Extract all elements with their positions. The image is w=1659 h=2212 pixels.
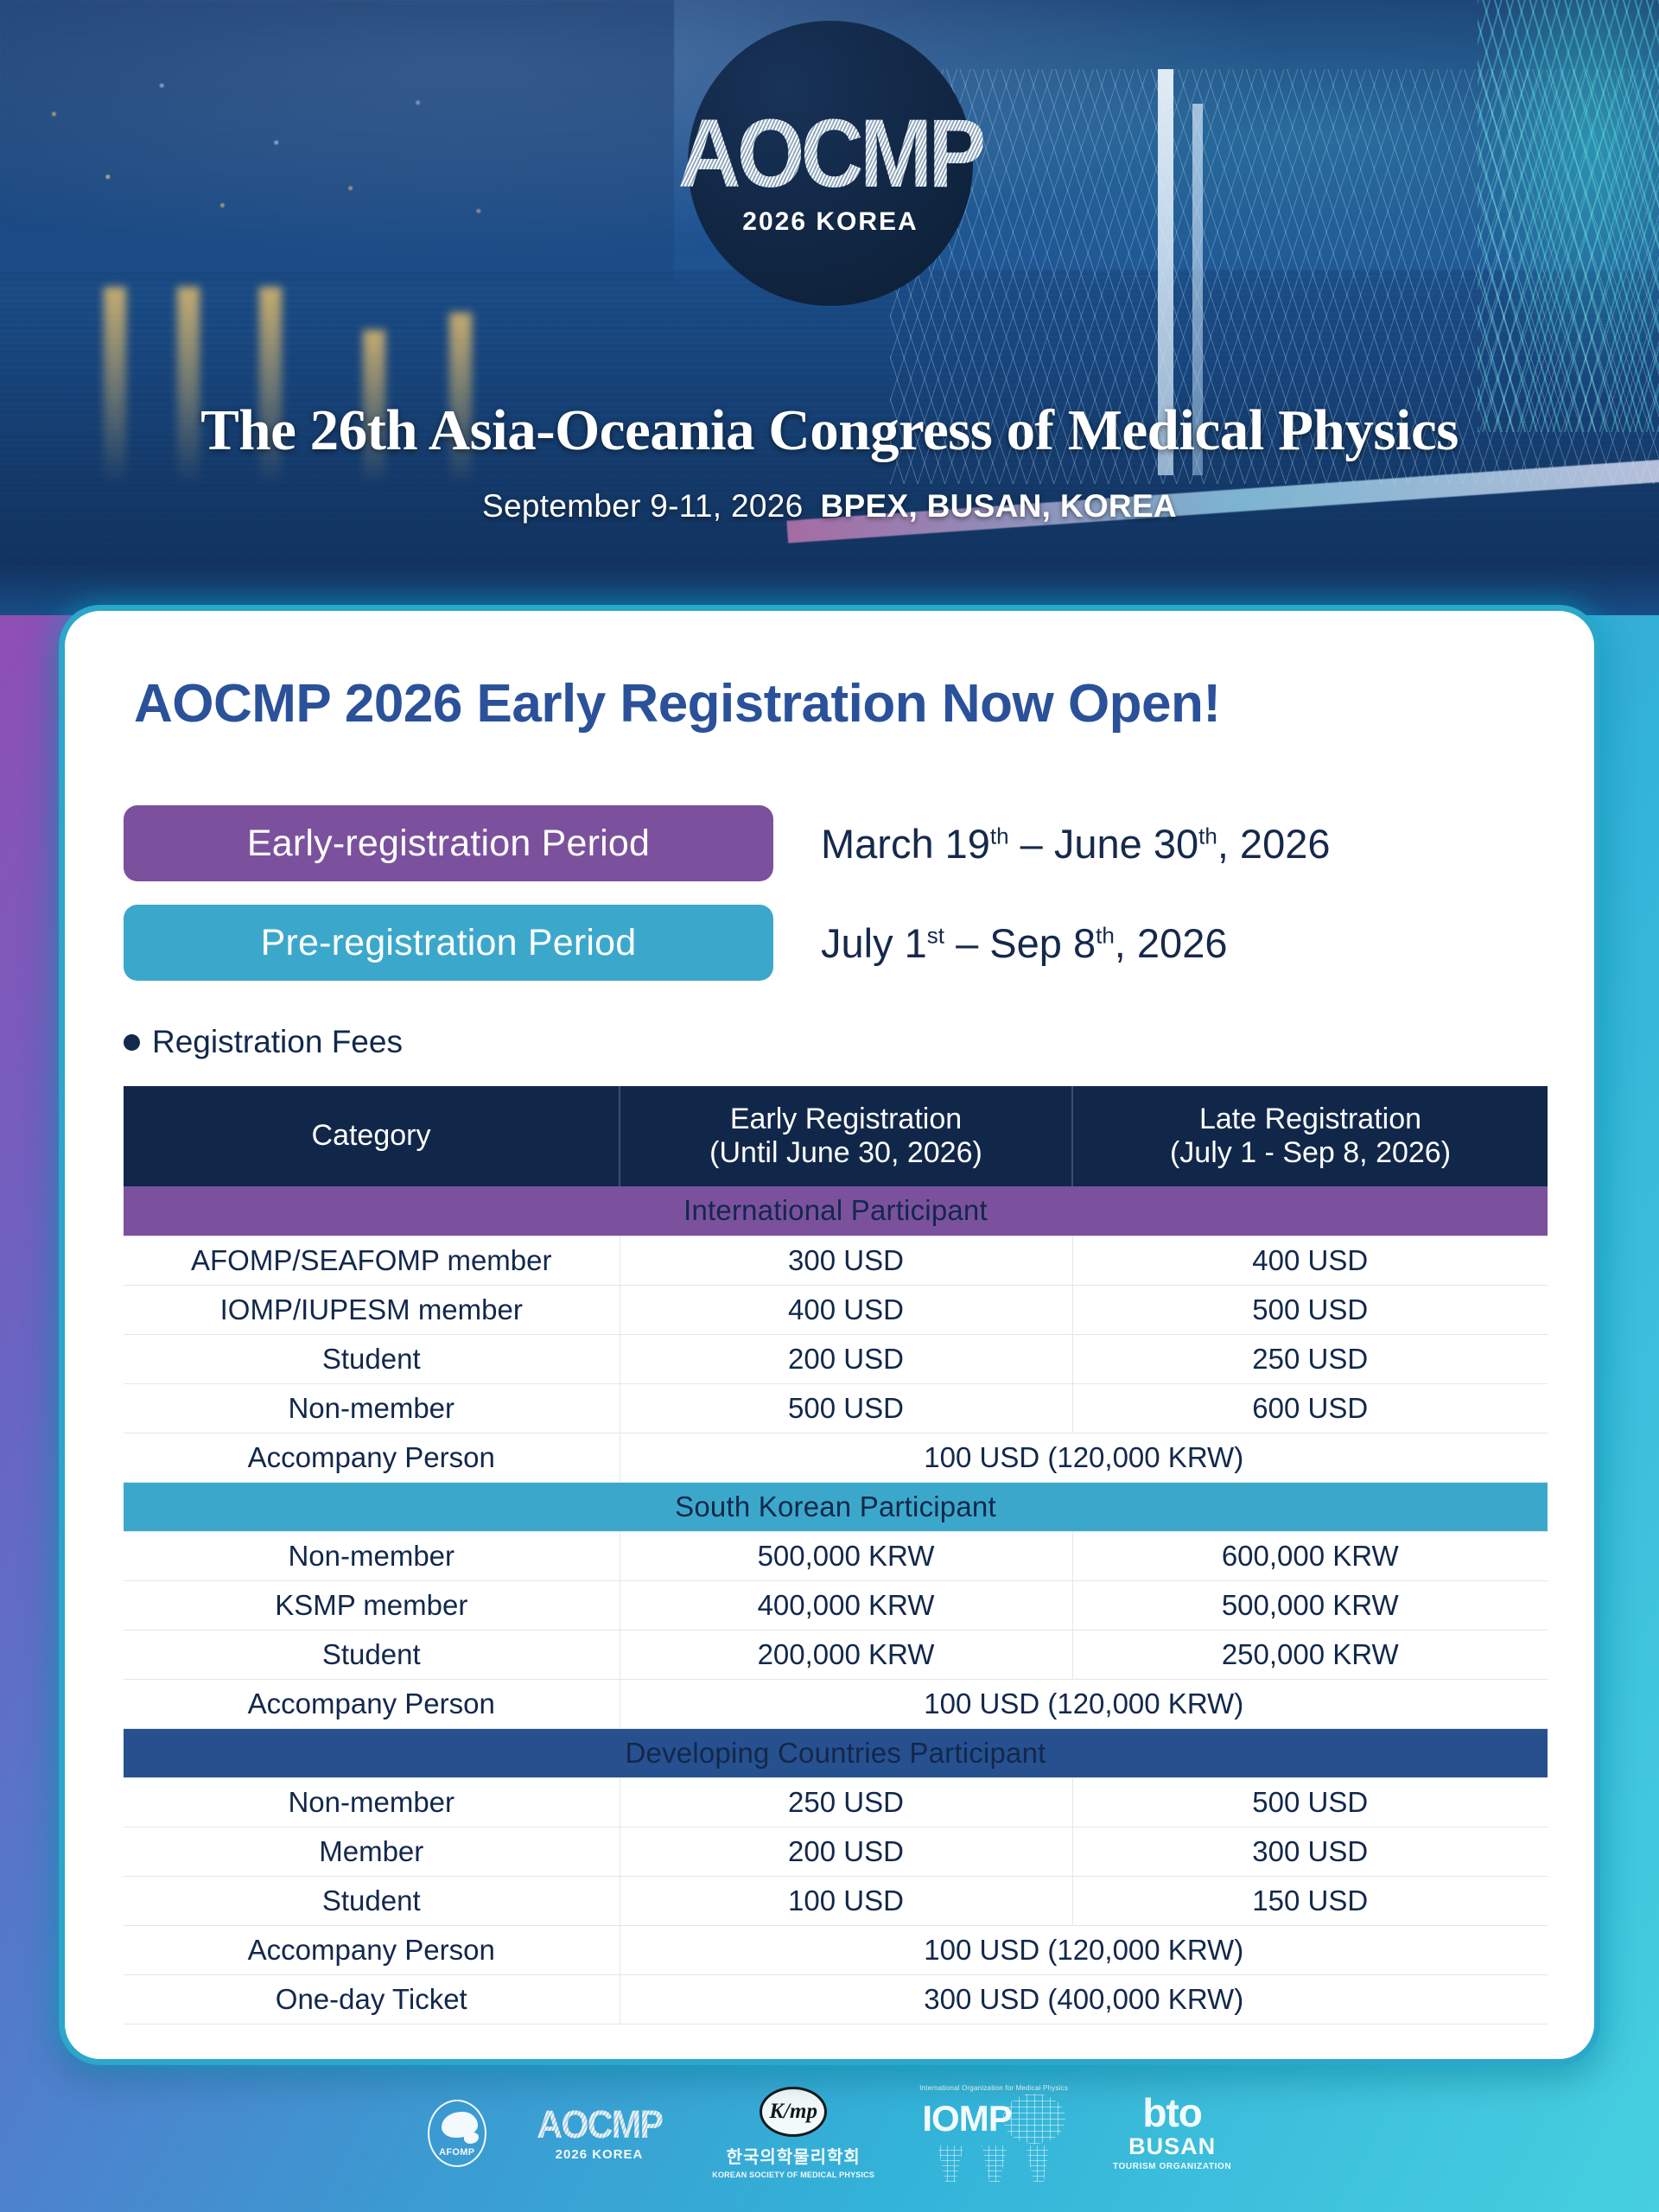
early-registration-period-date: March 19th – June 30th, 2026 (821, 820, 1331, 868)
table-row: Accompany Person100 USD (120,000 KRW) (124, 1433, 1548, 1482)
fee-late-value-cell: 600,000 KRW (1072, 1531, 1548, 1580)
ksmp-mark-icon: K/mp (760, 2087, 827, 2137)
iomp-tagline: International Organization for Medical P… (919, 2084, 1068, 2092)
aocmp-footer-year: 2026 KOREA (531, 2147, 668, 2162)
iomp-world-map-icon (919, 2145, 1049, 2182)
fee-category-cell: Student (124, 1630, 620, 1679)
table-row: Student100 USD150 USD (124, 1876, 1548, 1925)
fee-late-value-cell: 300 USD (1072, 1827, 1548, 1876)
fee-category-cell: Accompany Person (124, 1925, 620, 1974)
fee-early-value-cell: 200 USD (620, 1334, 1072, 1383)
table-row: Student200 USD250 USD (124, 1334, 1548, 1383)
afomp-continent-shape (464, 2133, 479, 2144)
aocmp-footer-wordmark: AOCMP (537, 2105, 662, 2144)
pre-registration-period-date: July 1st – Sep 8th, 2026 (821, 919, 1227, 967)
late-header-line2: (July 1 - Sep 8, 2026) (1170, 1136, 1451, 1169)
fee-early-value-cell: 200,000 KRW (620, 1630, 1072, 1679)
page-title: AOCMP 2026 Early Registration Now Open! (134, 673, 1221, 734)
column-header-category: Category (124, 1086, 620, 1186)
congress-date: September 9-11, 2026 (482, 488, 803, 524)
hero-cityscape (0, 0, 674, 285)
fee-early-value-cell: 250 USD (620, 1777, 1072, 1827)
bto-wordmark: bto (1113, 2094, 1231, 2133)
section-header-row: South Korean Participant (124, 1482, 1548, 1531)
fee-category-cell: AFOMP/SEAFOMP member (124, 1236, 620, 1285)
table-row: Student200,000 KRW250,000 KRW (124, 1630, 1548, 1679)
table-header-row: Category Early Registration (Until June … (124, 1086, 1548, 1186)
registration-fees-heading: Registration Fees (124, 1024, 403, 1060)
fee-category-cell: IOMP/IUPESM member (124, 1285, 620, 1334)
fee-late-value-cell: 500 USD (1072, 1285, 1548, 1334)
fee-combined-value-cell: 100 USD (120,000 KRW) (620, 1925, 1548, 1974)
table-row: One-day Ticket300 USD (400,000 KRW) (124, 1974, 1548, 2024)
fee-category-cell: Non-member (124, 1531, 620, 1580)
congress-date-venue: September 9-11, 2026BPEX, BUSAN, KOREA (0, 488, 1659, 524)
fee-early-value-cell: 500,000 KRW (620, 1531, 1072, 1580)
table-row: Accompany Person100 USD (120,000 KRW) (124, 1679, 1548, 1728)
early-registration-period-chip: Early-registration Period (124, 805, 773, 881)
section-header-row: Developing Countries Participant (124, 1728, 1548, 1777)
congress-title: The 26th Asia-Oceania Congress of Medica… (0, 397, 1659, 464)
column-header-late-registration: Late Registration (July 1 - Sep 8, 2026) (1072, 1086, 1548, 1186)
section-header-label: International Participant (124, 1186, 1548, 1236)
fee-category-cell: Accompany Person (124, 1679, 620, 1728)
aocmp-wordmark: AOCMP (678, 109, 983, 198)
registration-fees-table: Category Early Registration (Until June … (124, 1086, 1548, 2024)
afomp-label: AFOMP (439, 2147, 474, 2158)
fee-category-cell: One-day Ticket (124, 1974, 620, 2024)
fee-early-value-cell: 400 USD (620, 1285, 1072, 1334)
fee-late-value-cell: 500 USD (1072, 1777, 1548, 1827)
fee-late-value-cell: 600 USD (1072, 1383, 1548, 1433)
table-row: Accompany Person100 USD (120,000 KRW) (124, 1925, 1548, 1974)
ksmp-korean-name: 한국의학물리학회 (712, 2143, 874, 2168)
table-row: Member200 USD300 USD (124, 1827, 1548, 1876)
column-header-early-registration: Early Registration (Until June 30, 2026) (620, 1086, 1072, 1186)
pre-registration-period-chip: Pre-registration Period (124, 905, 773, 981)
fee-late-value-cell: 150 USD (1072, 1876, 1548, 1925)
footer-logo-list: AFOMP AOCMP 2026 KOREA K/mp 한국의학물리학회 KOR… (428, 2084, 1231, 2182)
section-header-label: Developing Countries Participant (124, 1728, 1548, 1777)
fee-early-value-cell: 200 USD (620, 1827, 1072, 1876)
bto-busan-logo: bto BUSAN TOURISM ORGANIZATION (1113, 2094, 1231, 2172)
fee-late-value-cell: 250 USD (1072, 1334, 1548, 1383)
fee-combined-value-cell: 100 USD (120,000 KRW) (620, 1433, 1548, 1482)
table-row: KSMP member400,000 KRW500,000 KRW (124, 1580, 1548, 1630)
iomp-globe-icon (1003, 2094, 1065, 2144)
fee-combined-value-cell: 100 USD (120,000 KRW) (620, 1679, 1548, 1728)
table-body: International ParticipantAFOMP/SEAFOMP m… (124, 1186, 1548, 2024)
table-row: AFOMP/SEAFOMP member300 USD400 USD (124, 1236, 1548, 1285)
bto-city-label: BUSAN (1113, 2133, 1231, 2160)
fee-early-value-cell: 300 USD (620, 1236, 1072, 1285)
table-row: Non-member250 USD500 USD (124, 1777, 1548, 1827)
footer-sponsor-bar: AFOMP AOCMP 2026 KOREA K/mp 한국의학물리학회 KOR… (0, 2065, 1659, 2212)
fee-combined-value-cell: 300 USD (400,000 KRW) (620, 1974, 1548, 2024)
iomp-logo: International Organization for Medical P… (919, 2084, 1068, 2182)
fee-late-value-cell: 250,000 KRW (1072, 1630, 1548, 1679)
table-row: Non-member500 USD600 USD (124, 1383, 1548, 1433)
poster-page: AOCMP 2026 KOREA The 26th Asia-Oceania C… (0, 0, 1659, 2212)
fee-late-value-cell: 500,000 KRW (1072, 1580, 1548, 1630)
fee-category-cell: Member (124, 1827, 620, 1876)
afomp-logo: AFOMP (428, 2100, 486, 2167)
early-header-line1: Early Registration (730, 1103, 962, 1135)
table-row: Non-member500,000 KRW600,000 KRW (124, 1531, 1548, 1580)
fee-category-cell: Accompany Person (124, 1433, 620, 1482)
fee-early-value-cell: 500 USD (620, 1383, 1072, 1433)
fee-category-cell: Student (124, 1334, 620, 1383)
afomp-globe-icon: AFOMP (428, 2100, 486, 2167)
fee-category-cell: KSMP member (124, 1580, 620, 1630)
registration-fees-label: Registration Fees (152, 1024, 403, 1060)
ksmp-logo: K/mp 한국의학물리학회 KOREAN SOCIETY OF MEDICAL … (712, 2087, 874, 2179)
fee-late-value-cell: 400 USD (1072, 1236, 1548, 1285)
iomp-wordmark: IOMP (922, 2101, 1011, 2137)
bullet-icon (124, 1034, 140, 1051)
iomp-wordmark-row: IOMP (919, 2094, 1068, 2144)
fee-category-cell: Non-member (124, 1777, 620, 1827)
pre-registration-period-row: Pre-registration Period July 1st – Sep 8… (124, 905, 1227, 981)
table-row: IOMP/IUPESM member400 USD500 USD (124, 1285, 1548, 1334)
bto-sub-label: TOURISM ORGANIZATION (1113, 2162, 1231, 2171)
fee-category-cell: Student (124, 1876, 620, 1925)
table-head: Category Early Registration (Until June … (124, 1086, 1548, 1186)
registration-card: AOCMP 2026 Early Registration Now Open! … (59, 605, 1600, 2065)
fee-category-cell: Non-member (124, 1383, 620, 1433)
aocmp-year-label: 2026 KOREA (742, 207, 918, 237)
early-header-line2: (Until June 30, 2026) (709, 1136, 982, 1169)
congress-venue: BPEX, BUSAN, KOREA (820, 488, 1176, 524)
fee-early-value-cell: 400,000 KRW (620, 1580, 1072, 1630)
fee-early-value-cell: 100 USD (620, 1876, 1072, 1925)
aocmp-logo-badge: AOCMP 2026 KOREA (688, 21, 973, 306)
section-header-label: South Korean Participant (124, 1482, 1548, 1531)
aocmp-footer-logo: AOCMP 2026 KOREA (531, 2105, 668, 2162)
ksmp-english-name: KOREAN SOCIETY OF MEDICAL PHYSICS (712, 2171, 874, 2179)
early-registration-period-row: Early-registration Period March 19th – J… (124, 805, 1331, 881)
late-header-line1: Late Registration (1199, 1103, 1421, 1135)
section-header-row: International Participant (124, 1186, 1548, 1236)
